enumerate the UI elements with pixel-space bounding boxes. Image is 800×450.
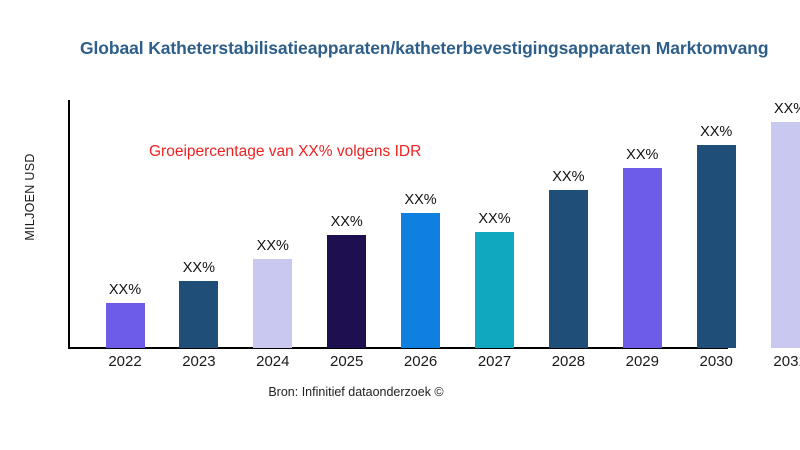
bar-2029[interactable]	[623, 168, 662, 348]
bar-value-label-2026: XX%	[381, 192, 461, 208]
x-tick-label-2023: 2023	[159, 353, 239, 370]
bar-2024[interactable]	[253, 259, 292, 348]
x-tick-label-2024: 2024	[233, 353, 313, 370]
chart-screenshot: Globaal Katheterstabilisatieapparaten/ka…	[0, 0, 800, 450]
x-tick-label-2022: 2022	[85, 353, 165, 370]
y-axis-line	[68, 100, 70, 349]
bar-value-label-2030: XX%	[676, 124, 756, 140]
bar-2028[interactable]	[549, 190, 588, 348]
x-tick-label-2026: 2026	[381, 353, 461, 370]
x-tick-label-2028: 2028	[528, 353, 608, 370]
x-tick-label-2030: 2030	[676, 353, 756, 370]
bar-2030[interactable]	[697, 145, 736, 348]
x-tick-label-2025: 2025	[307, 353, 387, 370]
bar-2027[interactable]	[475, 232, 514, 348]
plot-area: MILJOEN USD XX%2022XX%2023XX%2024XX%2025…	[0, 0, 800, 450]
growth-rate-annotation: Groeipercentage van XX% volgens IDR	[149, 143, 421, 161]
x-tick-label-2027: 2027	[455, 353, 535, 370]
bar-2023[interactable]	[179, 281, 218, 348]
bar-2022[interactable]	[106, 303, 145, 348]
bar-value-label-2031: XX%	[750, 101, 800, 117]
bar-value-label-2027: XX%	[455, 211, 535, 227]
y-axis-label: MILJOEN USD	[23, 137, 37, 257]
x-tick-label-2031: 2031	[750, 353, 800, 370]
source-note: Bron: Infinitief dataonderzoek ©	[0, 385, 712, 399]
bar-2031[interactable]	[771, 122, 800, 348]
bar-value-label-2028: XX%	[528, 169, 608, 185]
bar-value-label-2023: XX%	[159, 260, 239, 276]
bar-value-label-2022: XX%	[85, 282, 165, 298]
x-tick-label-2029: 2029	[602, 353, 682, 370]
bar-2026[interactable]	[401, 213, 440, 348]
bar-2025[interactable]	[327, 235, 366, 348]
bar-value-label-2029: XX%	[602, 147, 682, 163]
bar-value-label-2025: XX%	[307, 214, 387, 230]
bar-value-label-2024: XX%	[233, 238, 313, 254]
